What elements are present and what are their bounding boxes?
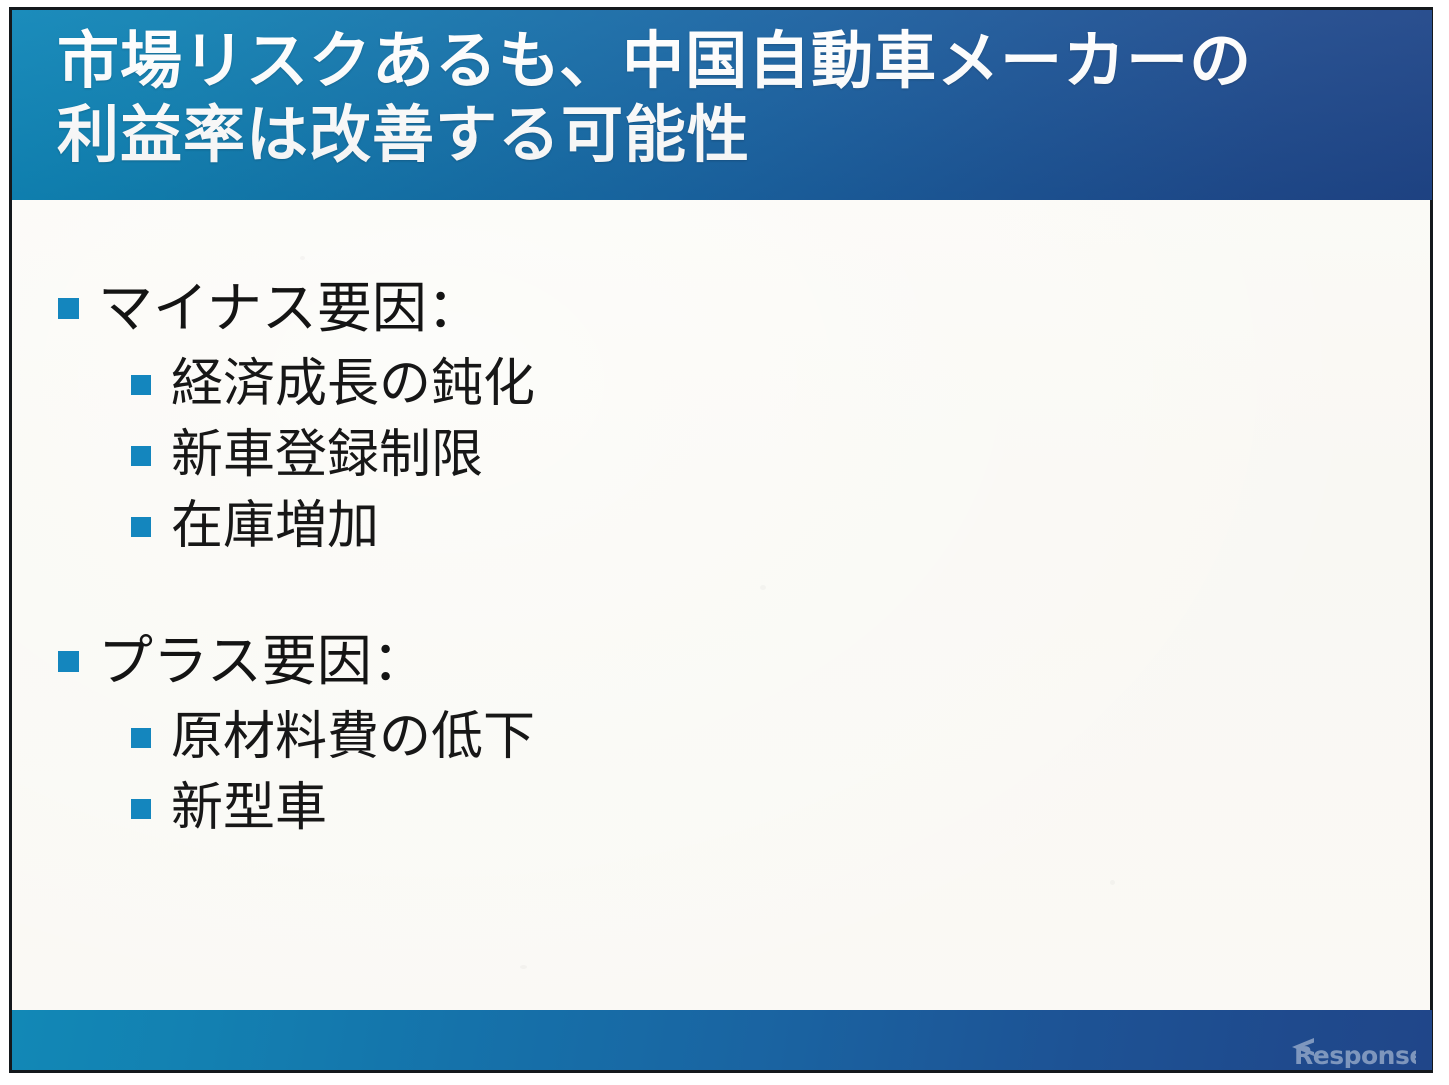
square-bullet-icon	[131, 446, 151, 466]
bullet-label-level2: 経済成長の鈍化	[171, 350, 535, 418]
response-watermark: Response	[1288, 1034, 1416, 1068]
square-bullet-icon	[58, 298, 79, 319]
bullet-item-level1: プラス要因：	[12, 625, 1412, 703]
bullet-label-level1: マイナス要因：	[98, 272, 482, 344]
bullet-item-level2: 新車登録制限	[12, 421, 1412, 492]
page-title: 市場リスクあるも、中国自動車メーカーの 利益率は改善する可能性	[57, 24, 1397, 172]
bullet-item-level1: マイナス要因：	[12, 272, 1412, 350]
slide-canvas: 市場リスクあるも、中国自動車メーカーの 利益率は改善する可能性 マイナス要因：	[0, 0, 1449, 1085]
bullet-item-level2: 在庫増加	[12, 492, 1412, 563]
bullet-label-level2: 新車登録制限	[171, 421, 483, 489]
bullet-item-level2: 新型車	[12, 774, 1412, 845]
square-bullet-icon	[131, 517, 151, 537]
square-bullet-icon	[131, 728, 151, 748]
bullet-label-level2: 原材料費の低下	[171, 703, 535, 771]
bullet-group-positive-factors: プラス要因： 原材料費の低下 新型車	[12, 625, 1412, 845]
square-bullet-icon	[58, 651, 79, 672]
bullet-label-level2: 在庫増加	[171, 492, 379, 560]
bullet-label-level1: プラス要因：	[98, 625, 427, 697]
bullet-item-level2: 原材料費の低下	[12, 703, 1412, 774]
svg-text:Response: Response	[1294, 1041, 1416, 1068]
bullet-item-level2: 経済成長の鈍化	[12, 350, 1412, 421]
bullet-group-negative-factors: マイナス要因： 経済成長の鈍化 新車登録制限	[12, 272, 1412, 563]
slide-footer-band: Response	[12, 1010, 1432, 1070]
slide-title-band: 市場リスクあるも、中国自動車メーカーの 利益率は改善する可能性	[12, 10, 1432, 200]
slide-body: マイナス要因： 経済成長の鈍化 新車登録制限	[12, 200, 1432, 1000]
bullet-label-level2: 新型車	[171, 774, 327, 842]
square-bullet-icon	[131, 799, 151, 819]
square-bullet-icon	[131, 375, 151, 395]
